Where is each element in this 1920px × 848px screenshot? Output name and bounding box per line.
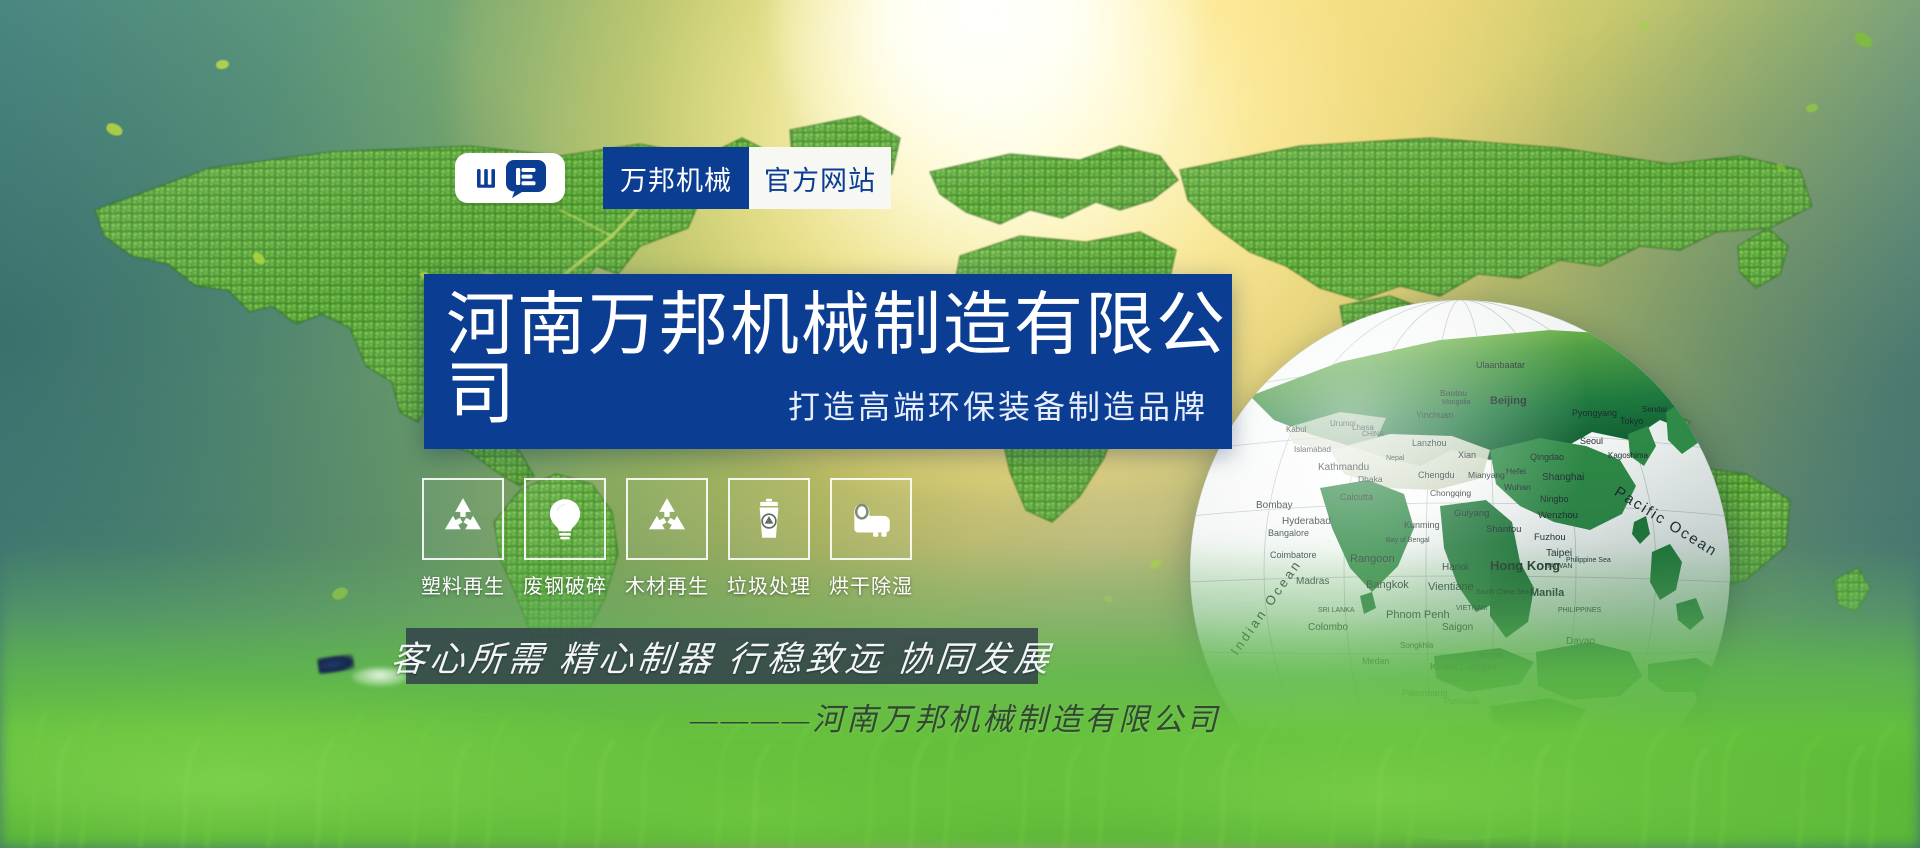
svg-text:Pyongyang: Pyongyang [1572, 408, 1617, 418]
trash-bin-icon [728, 478, 810, 560]
page-subtitle: 打造高端环保装备制造品牌 [788, 382, 1208, 428]
slogan-signature: ————河南万邦机械制造有限公司 [690, 694, 1220, 739]
svg-text:Yinchuan: Yinchuan [1416, 410, 1453, 420]
svg-text:Hyderabad: Hyderabad [1282, 516, 1331, 527]
slogan-banner: 客心所需 精心制器 行稳致远 协同发展 [406, 628, 1038, 684]
svg-text:Chengdu: Chengdu [1418, 470, 1455, 480]
svg-text:Shanghai: Shanghai [1542, 472, 1584, 483]
svg-text:Chongqing: Chongqing [1430, 488, 1471, 498]
service-item-waste-treatment[interactable]: 垃圾处理 [730, 478, 808, 599]
svg-text:Wenzhou: Wenzhou [1538, 510, 1578, 521]
service-item-scrap-steel-crushing[interactable]: 废钢破碎 [526, 478, 604, 599]
svg-text:Mongolia: Mongolia [1442, 399, 1471, 406]
svg-text:Kabul: Kabul [1286, 425, 1307, 434]
service-item-plastic-recycling[interactable]: 塑料再生 [424, 478, 502, 599]
wb-logo[interactable] [455, 153, 565, 203]
svg-text:Dhaka: Dhaka [1358, 474, 1383, 484]
brand-row: 万邦机械 官方网站 [455, 147, 891, 209]
dryer-icon [830, 478, 912, 560]
recycle-icon [422, 478, 504, 560]
service-item-wood-recycling[interactable]: 木材再生 [628, 478, 706, 599]
tab-official-site[interactable]: 官方网站 [749, 147, 891, 209]
brand-tabs: 万邦机械 官方网站 [603, 147, 891, 209]
svg-text:Islamabad: Islamabad [1294, 445, 1331, 454]
svg-text:Seoul: Seoul [1580, 436, 1603, 446]
svg-text:CHINA: CHINA [1362, 431, 1384, 438]
service-label: 木材再生 [625, 570, 709, 599]
tab-company-name[interactable]: 万邦机械 [603, 147, 749, 209]
service-label: 烘干除湿 [829, 570, 913, 599]
svg-text:Guiyang: Guiyang [1454, 508, 1489, 519]
svg-text:Kathmandu: Kathmandu [1318, 462, 1369, 473]
svg-text:Beijing: Beijing [1490, 395, 1527, 407]
hero-banner: Ulaanbaatar Beijing Baotou Yinchuan Lanz… [0, 0, 1920, 848]
hero-title-panel: 河南万邦机械制造有限公司 打造高端环保装备制造品牌 [424, 274, 1232, 449]
svg-text:Wuhan: Wuhan [1504, 482, 1531, 492]
svg-text:Hefei: Hefei [1506, 466, 1526, 476]
svg-text:Qingdao: Qingdao [1530, 452, 1564, 462]
logo-b-bubble-icon [506, 158, 546, 198]
svg-text:Sendai: Sendai [1642, 405, 1667, 414]
logo-w-icon [474, 165, 500, 191]
svg-text:Xian: Xian [1458, 450, 1476, 460]
svg-text:Nepal: Nepal [1386, 455, 1405, 462]
svg-text:Bombay: Bombay [1256, 500, 1293, 511]
service-label: 废钢破碎 [523, 570, 607, 599]
service-item-drying-dehumidifying[interactable]: 烘干除湿 [832, 478, 910, 599]
svg-text:Mianyang: Mianyang [1468, 470, 1505, 480]
svg-text:Kagoshima: Kagoshima [1608, 451, 1649, 460]
service-icon-row: 塑料再生 废钢破碎 [424, 478, 910, 599]
slogan-text: 客心所需 精心制器 行稳致远 协同发展 [388, 631, 1056, 682]
svg-text:Ulaanbaatar: Ulaanbaatar [1476, 360, 1525, 370]
service-label: 垃圾处理 [727, 570, 811, 599]
service-label: 塑料再生 [421, 570, 505, 599]
svg-text:Lanzhou: Lanzhou [1412, 438, 1447, 448]
svg-text:Calcutta: Calcutta [1340, 492, 1373, 502]
svg-text:Baotou: Baotou [1440, 388, 1467, 398]
svg-text:Ningbo: Ningbo [1540, 494, 1569, 504]
lightbulb-icon [524, 478, 606, 560]
svg-text:Tokyo: Tokyo [1620, 416, 1644, 426]
recycle-icon [626, 478, 708, 560]
